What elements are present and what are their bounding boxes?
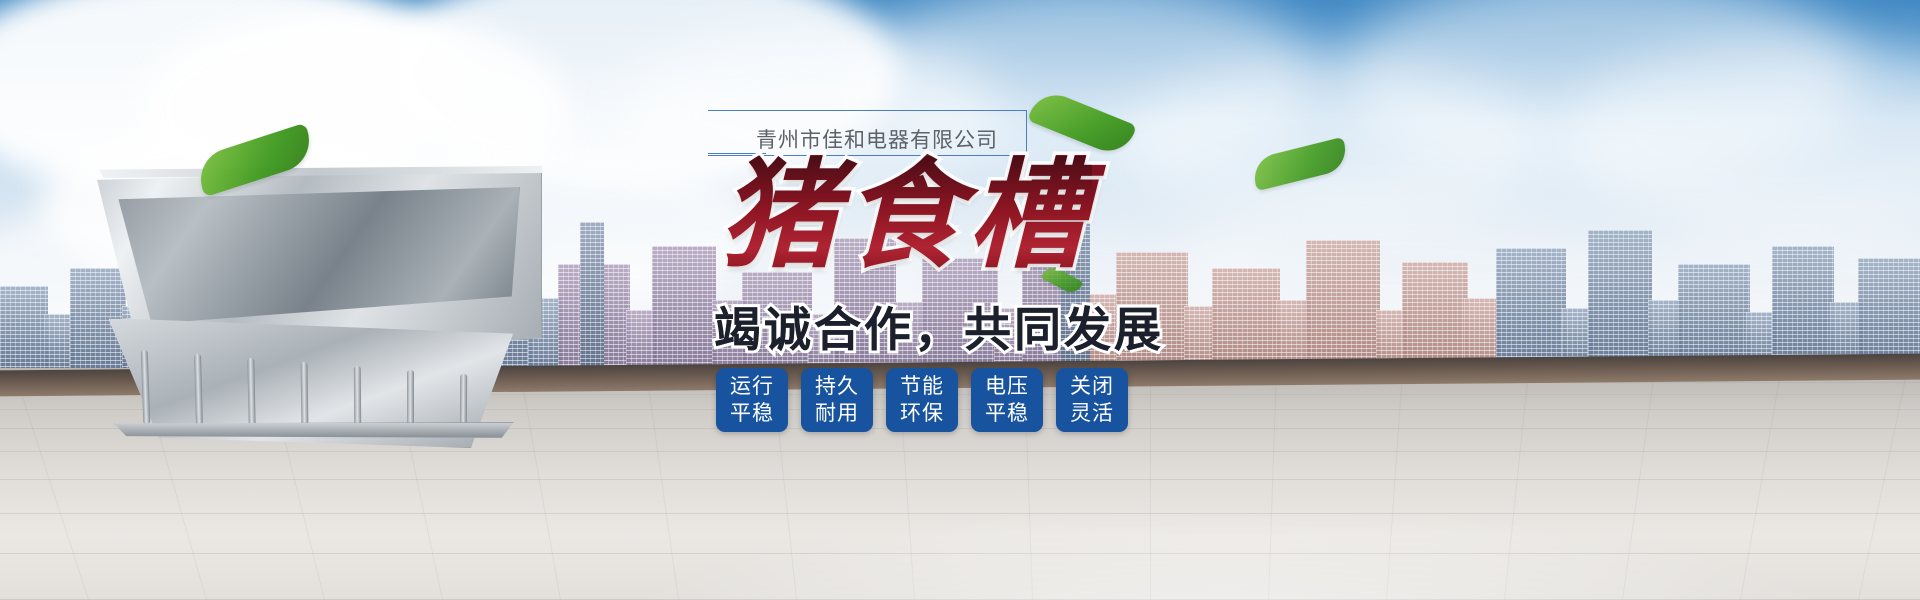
feature-badge-line2: 灵活 xyxy=(1070,400,1114,427)
feature-badge-row: 运行平稳持久耐用节能环保电压平稳关闭灵活 xyxy=(716,368,1128,432)
feature-badge-4[interactable]: 电压平稳 xyxy=(971,368,1043,432)
feature-badge-line1: 电压 xyxy=(985,373,1029,400)
slogan: 竭诚合作，共同发展 xyxy=(714,291,1164,360)
feature-badge-line2: 耐用 xyxy=(815,400,859,427)
banner-copy-block: 青州市佳和电器有限公司 猪食槽 猪食槽 竭诚合作，共同发展 竭诚合作，共同发展 … xyxy=(700,96,1340,476)
feature-badge-line1: 运行 xyxy=(730,373,774,400)
feature-badge-line1: 持久 xyxy=(815,373,859,400)
promotional-banner: 青州市佳和电器有限公司 猪食槽 猪食槽 竭诚合作，共同发展 竭诚合作，共同发展 … xyxy=(0,0,1920,600)
feature-badge-line2: 平稳 xyxy=(730,400,774,427)
feature-badge-line2: 环保 xyxy=(900,400,944,427)
feature-badge-1[interactable]: 运行平稳 xyxy=(716,368,788,432)
feature-badge-line1: 关闭 xyxy=(1070,373,1114,400)
feature-badge-2[interactable]: 持久耐用 xyxy=(801,368,873,432)
feature-badge-5[interactable]: 关闭灵活 xyxy=(1056,368,1128,432)
headline-title: 猪食槽 xyxy=(720,156,1092,274)
feature-badge-3[interactable]: 节能环保 xyxy=(886,368,958,432)
leaf-icon xyxy=(193,123,318,198)
feature-badge-line1: 节能 xyxy=(900,373,944,400)
feature-badge-line2: 平稳 xyxy=(985,400,1029,427)
